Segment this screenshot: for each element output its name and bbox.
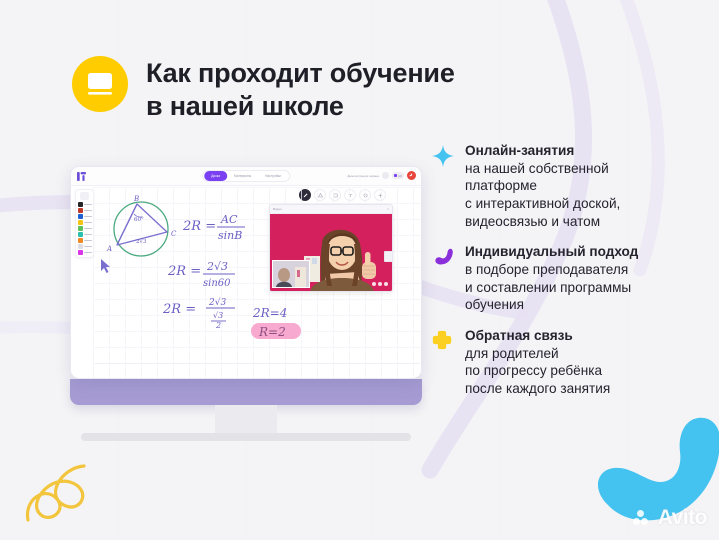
feature-title: Онлайн-занятия xyxy=(465,142,620,160)
svg-text:2√3: 2√3 xyxy=(136,238,147,245)
svg-text:2R=4: 2R=4 xyxy=(252,306,287,320)
video-stream xyxy=(270,214,392,292)
monitor-mockup: Доска Материалы Настройки Демонстрация э… xyxy=(70,166,422,441)
feature-title: Обратная связь xyxy=(465,327,610,345)
poster-root: Как проходит обучение в нашей школе Доск… xyxy=(0,0,719,540)
feature-title: Индивидуальный подход xyxy=(465,243,638,261)
feature-individual-approach: Индивидуальный подход в подборе преподав… xyxy=(432,243,700,314)
board-footer-divider xyxy=(95,363,419,364)
phone-hangup-icon[interactable] xyxy=(407,171,416,180)
app-tabs[interactable]: Доска Материалы Настройки xyxy=(202,170,290,182)
video-expand-button[interactable] xyxy=(384,251,393,262)
plus-icon xyxy=(432,327,456,398)
feature-feedback: Обратная связь для родителей по прогресс… xyxy=(432,327,700,398)
svg-text:60°: 60° xyxy=(134,217,144,223)
svg-text:2R =: 2R = xyxy=(182,219,216,234)
video-panel-header: Видео × xyxy=(270,205,392,214)
lock-icon[interactable] xyxy=(80,192,89,200)
svg-text:A: A xyxy=(106,245,112,253)
video-panel[interactable]: Видео × xyxy=(269,204,393,292)
feature-text: Обратная связь для родителей по прогресс… xyxy=(465,327,610,398)
feature-online-lessons: Онлайн-занятия на нашей собственной плат… xyxy=(432,142,700,230)
hd-chip-label: HD xyxy=(398,174,402,178)
svg-text:sinB: sinB xyxy=(218,229,242,242)
monitor-screen: Доска Материалы Настройки Демонстрация э… xyxy=(70,166,422,379)
svg-text:√3: √3 xyxy=(213,311,223,320)
close-icon[interactable]: × xyxy=(387,207,389,211)
palette-row[interactable] xyxy=(77,226,93,231)
hd-chip[interactable]: HD xyxy=(392,172,404,179)
svg-text:2√3: 2√3 xyxy=(208,297,226,308)
palette-row[interactable] xyxy=(77,232,93,237)
video-panel-title: Видео xyxy=(273,207,282,211)
avito-logo-icon xyxy=(633,510,655,526)
palette-row[interactable] xyxy=(77,208,93,213)
avito-watermark: Avito xyxy=(633,506,707,530)
monitor-chin xyxy=(70,379,422,405)
monitor-icon xyxy=(85,71,115,97)
avito-wordmark: Avito xyxy=(658,506,707,530)
palette-row[interactable] xyxy=(77,250,93,255)
feature-text: Индивидуальный подход в подборе преподав… xyxy=(465,243,638,314)
student-thumbnail[interactable] xyxy=(272,260,310,288)
app-logo-icon xyxy=(77,172,86,181)
avatar-icon[interactable] xyxy=(382,172,389,179)
svg-text:B: B xyxy=(133,195,139,203)
app-header-right: Демонстрация экрана HD xyxy=(347,171,416,180)
svg-text:R=2: R=2 xyxy=(258,325,286,339)
feature-body: для родителей по прогрессу ребёнка после… xyxy=(465,345,610,398)
palette-row[interactable] xyxy=(77,202,93,207)
monitor-stand-base xyxy=(81,433,411,441)
monitor-stand-neck xyxy=(215,405,277,433)
svg-text:C: C xyxy=(171,230,177,238)
feature-body: в подборе преподавателя и составлении пр… xyxy=(465,261,638,314)
feature-list: Онлайн-занятия на нашей собственной плат… xyxy=(432,142,700,411)
monitor-badge xyxy=(72,56,128,112)
tab-board[interactable]: Доска xyxy=(204,171,227,181)
feature-text: Онлайн-занятия на нашей собственной плат… xyxy=(465,142,620,230)
palette-row[interactable] xyxy=(77,214,93,219)
crescent-icon xyxy=(432,243,456,314)
svg-text:AC: AC xyxy=(220,213,238,226)
svg-text:2: 2 xyxy=(215,321,221,330)
svg-text:2√3: 2√3 xyxy=(206,260,228,273)
feature-body: на нашей собственной платформе с интерак… xyxy=(465,160,620,231)
svg-text:sin60: sin60 xyxy=(203,278,231,289)
four-point-star-icon xyxy=(432,142,456,230)
palette-row[interactable] xyxy=(77,244,93,249)
tab-materials[interactable]: Материалы xyxy=(227,171,258,181)
palette-row[interactable] xyxy=(77,238,93,243)
tab-settings[interactable]: Настройки xyxy=(258,171,288,181)
page-title: Как проходит обучение в нашей школе xyxy=(146,56,455,123)
color-palette[interactable] xyxy=(75,189,94,258)
palette-row[interactable] xyxy=(77,220,93,225)
app-header: Доска Материалы Настройки Демонстрация э… xyxy=(71,167,421,186)
three-dots-icon[interactable] xyxy=(372,282,388,286)
screenshare-status: Демонстрация экрана xyxy=(347,174,379,178)
svg-text:2R =: 2R = xyxy=(162,302,196,317)
svg-text:2R =: 2R = xyxy=(167,264,201,279)
page-header: Как проходит обучение в нашей школе xyxy=(72,56,455,123)
